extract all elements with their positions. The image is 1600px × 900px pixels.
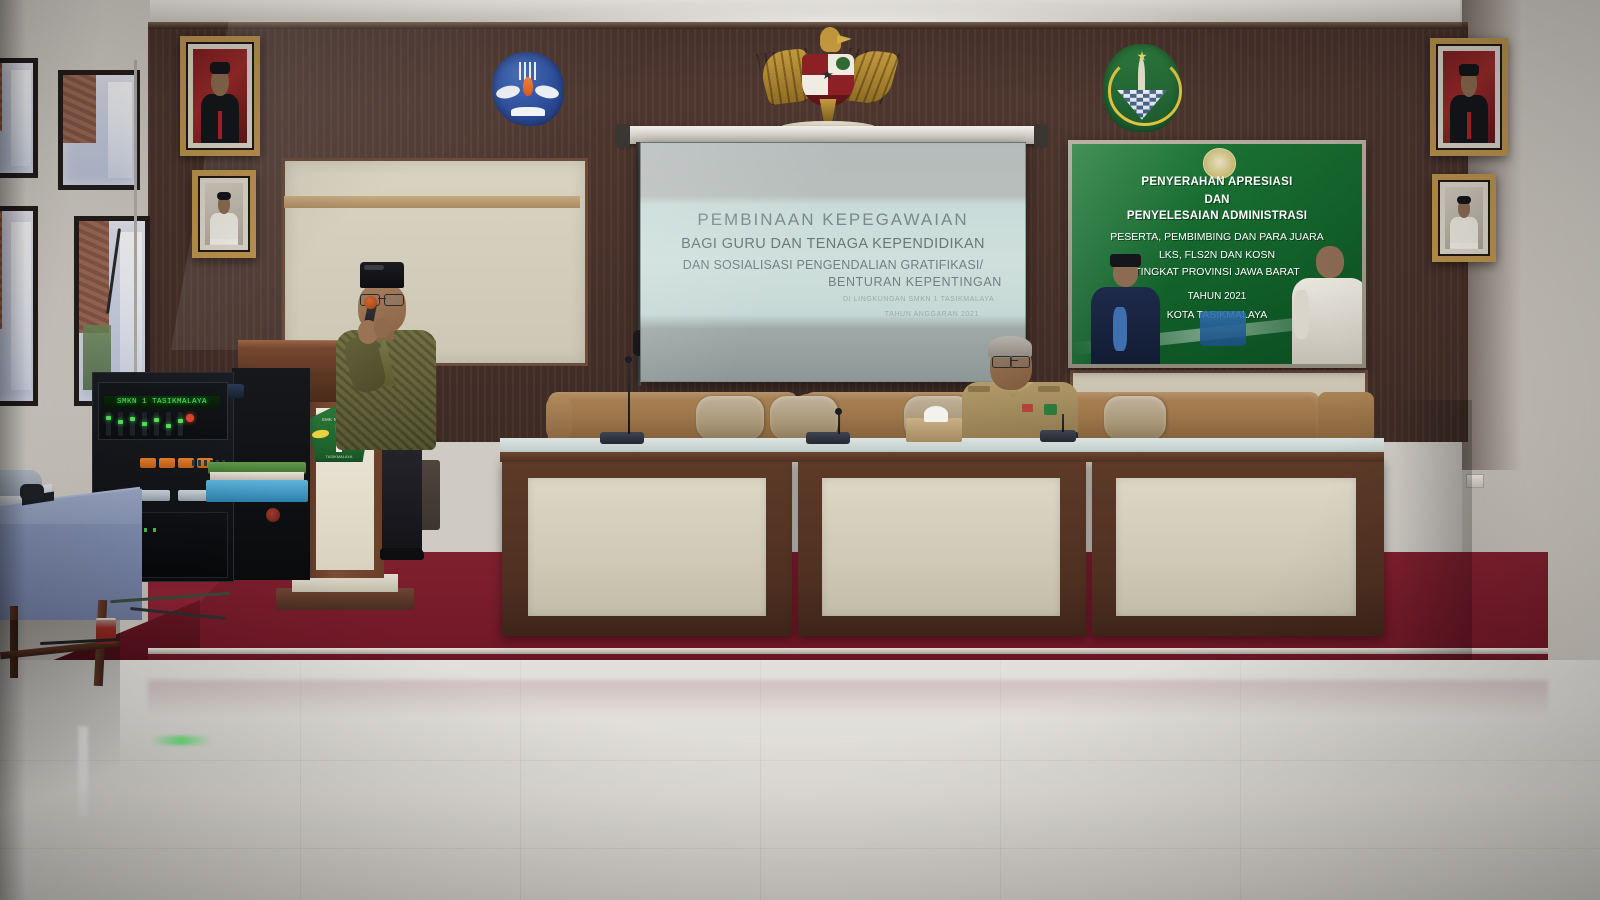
shield-quadrant-bl xyxy=(802,75,828,95)
sofa-cushion xyxy=(696,396,764,440)
fader-knob[interactable] xyxy=(166,424,171,428)
speaker-shoe xyxy=(380,548,424,560)
mixer-fader[interactable] xyxy=(178,412,183,436)
right-side-shadow xyxy=(1392,400,1472,660)
table-front-panel-right xyxy=(1116,478,1356,616)
banner-line-3: PENYELESAIAN ADMINISTRASI xyxy=(1072,210,1362,222)
table-front-panel-left xyxy=(528,478,766,616)
portrait-peci-cap xyxy=(1457,196,1471,204)
shield-quadrant-tl xyxy=(802,54,828,74)
fader-knob[interactable] xyxy=(106,416,111,420)
window-view-roof-tiles xyxy=(63,75,96,143)
microphone-stem xyxy=(838,412,840,434)
banner-line-2: DAN xyxy=(1072,194,1362,206)
banner-line-1: PENYERAHAN APRESIASI xyxy=(1072,176,1362,188)
mixer-fader[interactable] xyxy=(118,412,123,436)
wall-panel-rail xyxy=(284,196,580,208)
floor-gloss xyxy=(0,660,1600,900)
mixer-fader[interactable] xyxy=(166,412,171,436)
table-front-panel-center xyxy=(822,478,1060,616)
event-banner: PENYERAHAN APRESIASI DAN PENYELESAIAN AD… xyxy=(1072,144,1362,364)
portrait-peci-cap xyxy=(1459,64,1479,76)
speaker-trousers xyxy=(382,446,422,554)
fader-knob[interactable] xyxy=(154,418,159,422)
sofa-armrest xyxy=(546,394,572,442)
fader-knob[interactable] xyxy=(130,417,135,421)
portrait-photo xyxy=(193,49,247,143)
wall-conduit-cable xyxy=(134,60,137,380)
shield-quadrant-br xyxy=(828,75,854,95)
meeting-hall-photo: PEMBINAAN KEPEGAWAIAN BAGI GURU DAN TENA… xyxy=(0,0,1600,900)
figure-face xyxy=(1316,246,1344,278)
window-view-roof-tiles xyxy=(79,221,109,333)
banner-province-logo-icon xyxy=(1203,148,1237,179)
table-edge xyxy=(500,452,1384,462)
window-upper-left xyxy=(58,70,140,190)
portrait-vice-president xyxy=(1430,38,1508,156)
portrait-photo xyxy=(1445,187,1483,249)
cabinet-logo-icon xyxy=(266,508,280,522)
stacked-box-blue xyxy=(206,480,308,502)
portrait-regional-official-right xyxy=(1432,174,1496,262)
portrait-photo xyxy=(1443,51,1495,143)
official-epaulette-right xyxy=(1038,386,1060,392)
garuda-shield xyxy=(802,54,855,105)
shield-banyan-tree xyxy=(836,57,850,70)
banner-figure-left xyxy=(1087,254,1165,364)
screen-housing-cap-left xyxy=(616,124,630,148)
glasses-bridge xyxy=(1010,360,1018,361)
mixer-fader[interactable] xyxy=(154,412,159,436)
fader-knob[interactable] xyxy=(142,422,147,426)
portrait-necktie xyxy=(1467,112,1471,140)
microphone-base xyxy=(806,432,850,444)
figure-arm xyxy=(1113,307,1127,351)
banner-figure-right xyxy=(1287,241,1362,364)
mixer-power-led xyxy=(186,414,194,422)
mixer-led-display: SMKN 1 TASIKMALAYA xyxy=(104,396,220,409)
mixer-display-text: SMKN 1 TASIKMALAYA xyxy=(104,396,220,409)
portrait-peci-cap xyxy=(210,62,231,74)
sofa-far-right xyxy=(1318,392,1374,444)
garuda-tail xyxy=(817,99,838,122)
tut-wuri-handayani-icon xyxy=(492,52,564,126)
microphone-windscreen-icon xyxy=(364,296,377,309)
portrait-regional-official-left xyxy=(192,170,256,258)
lens-right xyxy=(1010,356,1030,368)
official-hair xyxy=(988,336,1032,358)
microphone-head-icon xyxy=(625,356,632,363)
official-badge xyxy=(1044,404,1057,415)
official-ribbon xyxy=(1022,404,1033,412)
portrait-nameplate xyxy=(210,239,239,244)
west-java-emblem-icon xyxy=(1103,44,1181,132)
glasses-bridge xyxy=(378,298,386,299)
sofa-cushion xyxy=(1104,396,1166,440)
rack-button[interactable] xyxy=(178,490,208,501)
emblem-flame xyxy=(523,77,533,96)
cap-highlight xyxy=(364,265,384,270)
fader-knob[interactable] xyxy=(178,419,183,423)
microphone-head-icon xyxy=(835,408,842,415)
mixer-button[interactable] xyxy=(140,458,156,468)
portrait-president xyxy=(180,36,260,156)
official-epaulette-left xyxy=(968,386,990,392)
rack-button[interactable] xyxy=(140,490,170,501)
lens-right xyxy=(384,294,404,306)
garuda-pancasila-icon xyxy=(762,22,894,138)
lens-left xyxy=(992,356,1012,368)
garuda-beak xyxy=(837,35,852,44)
emblem-book xyxy=(511,107,546,117)
microphone-stem xyxy=(628,360,630,434)
figure-arm xyxy=(1294,290,1310,339)
screen-housing-cap-right xyxy=(1034,124,1048,148)
tissue-sheet xyxy=(924,406,948,422)
window-glare xyxy=(108,82,132,179)
ceiling-light-glow xyxy=(480,0,1240,22)
banner-secondary-logo-icon xyxy=(1200,311,1246,346)
emblem-kris xyxy=(1138,58,1145,93)
portrait-nameplate xyxy=(1450,243,1479,248)
official-glasses-icon xyxy=(991,356,1031,365)
event-banner-frame: PENYERAHAN APRESIASI DAN PENYELESAIAN AD… xyxy=(1068,140,1366,368)
mixer-fader[interactable] xyxy=(106,412,111,436)
fader-knob[interactable] xyxy=(118,420,123,424)
microphone-base xyxy=(1040,430,1076,442)
portrait-necktie xyxy=(218,111,222,139)
microphone-base xyxy=(600,432,644,444)
portrait-peci-cap xyxy=(217,192,231,200)
window-glare xyxy=(120,232,142,390)
figure-peci-cap xyxy=(1110,254,1141,267)
mixer-fader[interactable] xyxy=(130,412,135,436)
mixer-button[interactable] xyxy=(159,458,175,468)
mixer-fader[interactable] xyxy=(142,412,147,436)
sofa xyxy=(1060,392,1320,444)
mixer-led-floor-reflection xyxy=(150,736,212,745)
speaker-hand-second xyxy=(374,318,390,338)
bottom-left-shadow xyxy=(0,620,120,900)
microphone-stem xyxy=(1062,414,1064,432)
portrait-photo xyxy=(205,183,243,245)
